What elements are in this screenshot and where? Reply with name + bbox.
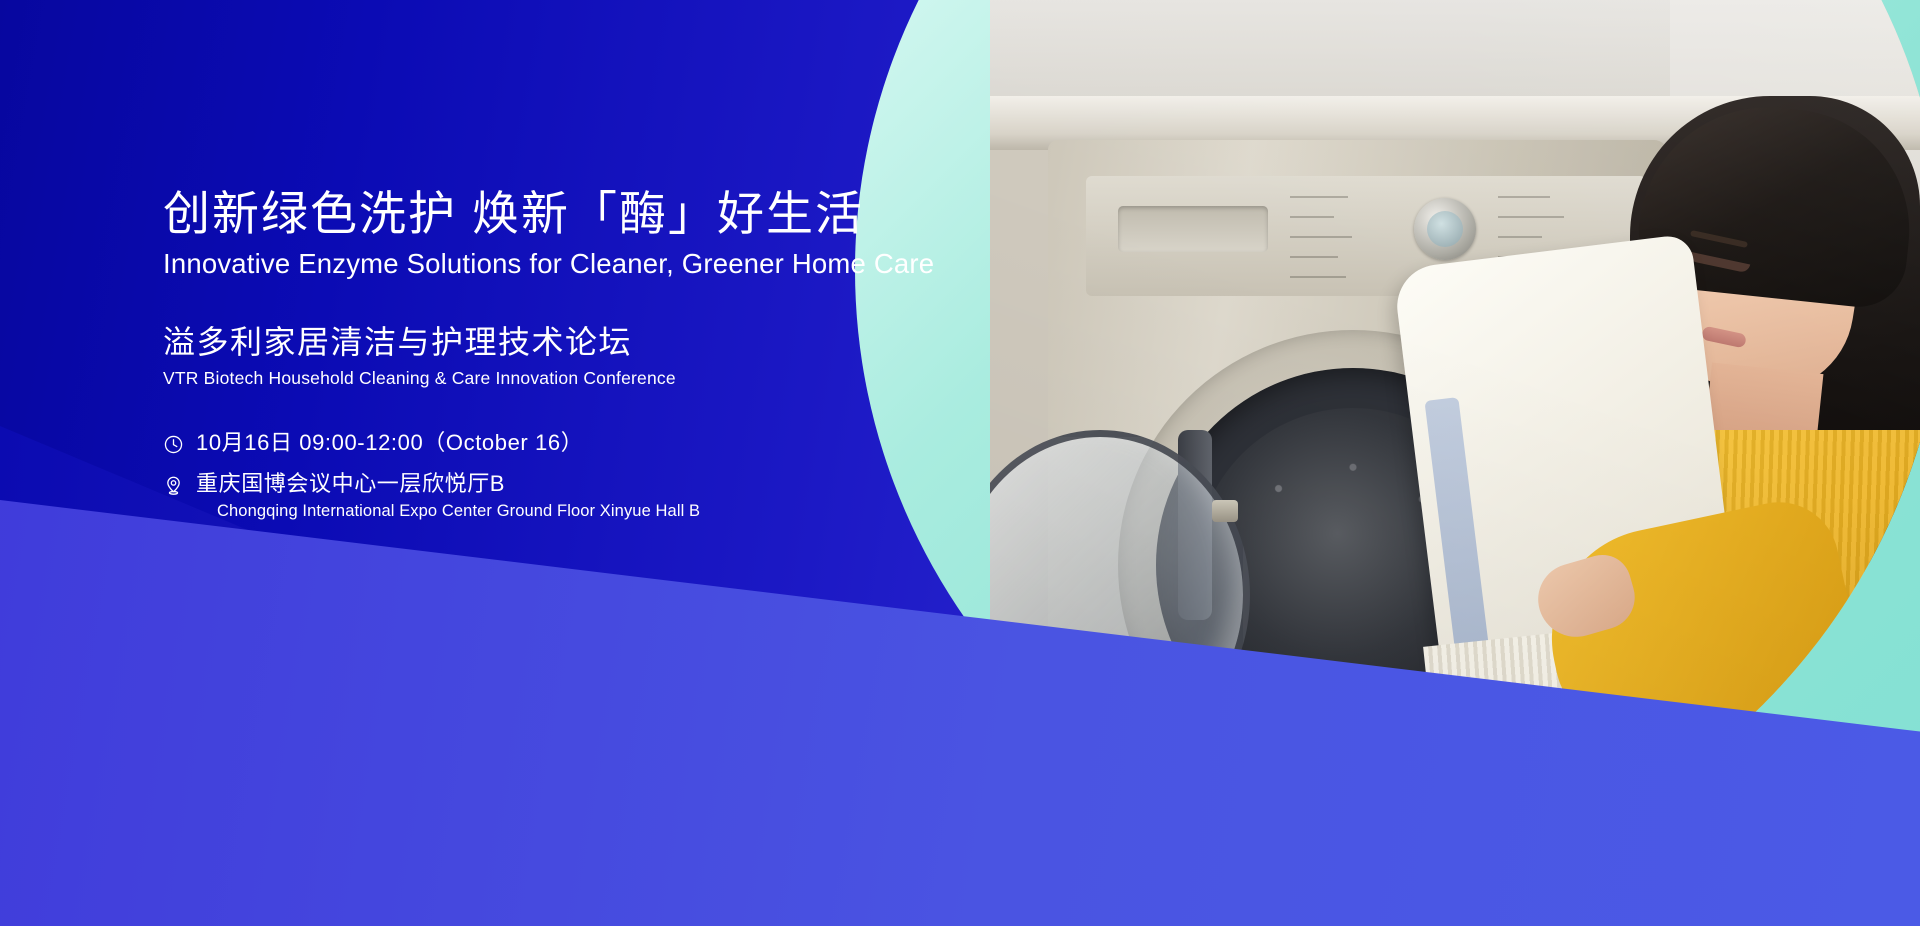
event-venue-secondary: Chongqing International Expo Center Grou… [217, 501, 700, 521]
subtitle-english: VTR Biotech Household Cleaning & Care In… [163, 368, 1043, 389]
headline-chinese: 创新绿色洗护 焕新「酶」好生活 [163, 186, 1043, 241]
location-pin-icon [163, 475, 184, 496]
event-datetime-text: 10月16日 09:00-12:00（October 16） [196, 429, 583, 457]
event-venue-row: 重庆国博会议中心一层欣悦厅B Chongqing International E… [163, 470, 1043, 522]
subtitle-chinese: 溢多利家居清洁与护理技术论坛 [163, 322, 1043, 362]
event-banner: 创新绿色洗护 焕新「酶」好生活 Innovative Enzyme Soluti… [0, 0, 1920, 926]
clock-icon [163, 434, 184, 455]
headline-english: Innovative Enzyme Solutions for Cleaner,… [163, 247, 1043, 280]
event-details: 10月16日 09:00-12:00（October 16） 重庆国博会议中心一… [163, 429, 1043, 521]
banner-text-block: 创新绿色洗护 焕新「酶」好生活 Innovative Enzyme Soluti… [163, 186, 1043, 535]
event-venue-text: 重庆国博会议中心一层欣悦厅B Chongqing International E… [196, 470, 700, 522]
event-datetime-primary: 10月16日 09:00-12:00（October 16） [196, 430, 583, 455]
event-venue-primary: 重庆国博会议中心一层欣悦厅B [196, 471, 505, 496]
event-datetime-row: 10月16日 09:00-12:00（October 16） [163, 429, 1043, 457]
